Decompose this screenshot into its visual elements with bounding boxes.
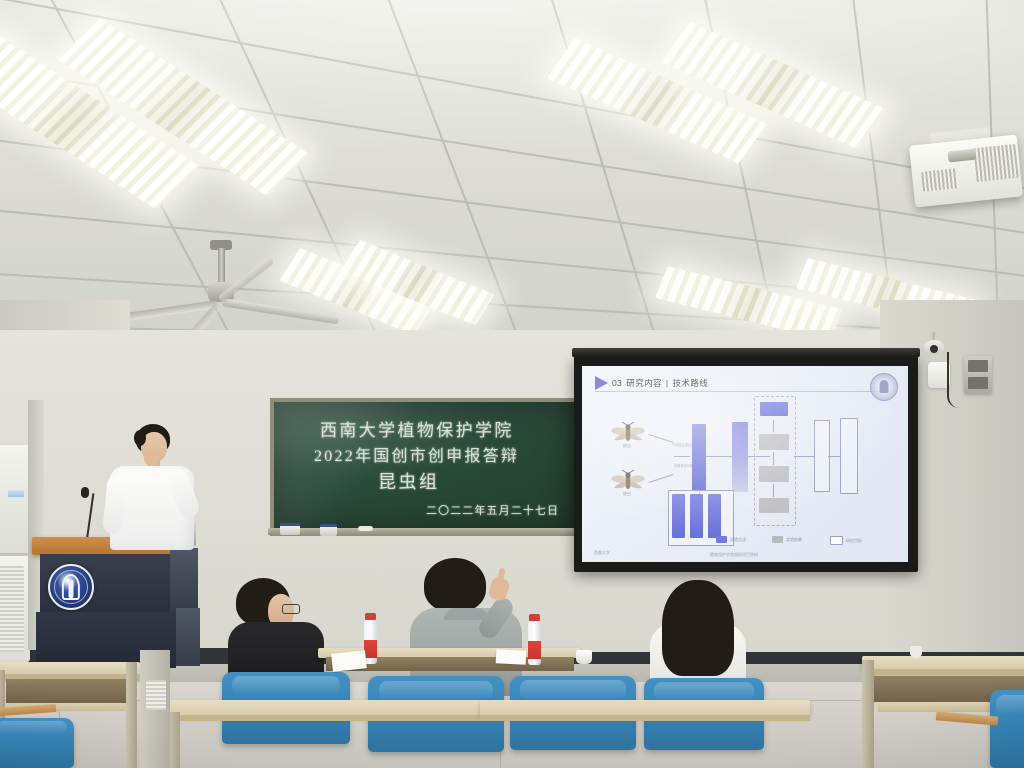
blackboard-line-1: 西南大学植物保护学院 (320, 416, 514, 441)
chalk-eraser (280, 523, 300, 535)
slide-footer-left: 西南大学 (594, 550, 610, 556)
blackboard: 西南大学植物保护学院 2022年国创市创申报答辩 昆虫组 二〇二二年五月二十七日 (270, 398, 578, 536)
audience-2-hair (424, 558, 486, 612)
podium-side-panel (170, 548, 198, 612)
power-cable (947, 352, 973, 408)
legend-item-outline: 研究目标 (830, 536, 862, 545)
microphone-head (81, 487, 89, 498)
handout-paper-1 (331, 650, 367, 671)
legend-item-blue: 实验方法 (716, 536, 746, 543)
flow-box-primary (692, 424, 706, 490)
presenter-hand (144, 450, 158, 466)
handout-paper-2 (496, 649, 527, 665)
projection-screen: 03 研究内容 | 技术路线 雌虫 (574, 356, 918, 572)
slide-title-sub: 技术路线 (673, 377, 709, 389)
legend-label-outline: 研究目标 (846, 538, 862, 544)
flow-box-secondary (732, 422, 748, 492)
insect-specimen-female: 雌虫 (610, 422, 646, 449)
slide-footer-center: 植物保护学院国创项目答辩 (710, 552, 758, 558)
legend-label-blue: 实验方法 (730, 537, 746, 543)
result-box-3 (759, 498, 789, 513)
blackboard-line-2: 2022年国创市创申报答辩 (314, 442, 519, 466)
flow-box-branch-2 (690, 494, 703, 538)
slide-title-underline (595, 391, 882, 392)
slide-title-bar: 03 研究内容 | 技术路线 (595, 376, 708, 390)
presentation-slide: 03 研究内容 | 技术路线 雌虫 (582, 366, 908, 562)
result-box-1 (759, 434, 789, 450)
slide-title-separator: | (666, 378, 669, 388)
legend-label-gray: 实验结果 (786, 537, 802, 543)
flow-box-top-right (760, 402, 788, 416)
classroom-photo: 西南大学植物保护学院 2022年国创市创申报答辩 昆虫组 二〇二二年五月二十七日… (0, 0, 1024, 768)
slide-title-number: 03 (612, 378, 622, 388)
audience-3-hair (662, 580, 734, 676)
university-crest-icon (870, 373, 898, 401)
blackboard-line-4: 二〇二二年五月二十七日 (426, 502, 559, 518)
result-box-2 (759, 466, 789, 482)
legend-swatch-blue (716, 536, 727, 543)
southwest-university-emblem (48, 564, 94, 610)
wall-socket (910, 646, 922, 658)
desk-front-center-2 (480, 700, 810, 716)
chalk-stick (358, 526, 373, 531)
legend-swatch-outline (830, 536, 843, 545)
outcome-box-2 (840, 418, 858, 494)
branch-annotation-2: 系统进化分析 (674, 463, 693, 468)
legend-swatch-gray (772, 536, 783, 543)
chalk-tray (268, 528, 574, 535)
chalk-eraser (320, 524, 337, 536)
specimen-label-male: 雄虫 (623, 491, 631, 497)
flow-box-branch-3 (708, 494, 721, 538)
presenter-hair-bun (134, 430, 146, 446)
flow-box-branch-1 (672, 494, 685, 538)
slide-title-main: 研究内容 (626, 377, 662, 389)
ceiling (0, 0, 1024, 360)
audience-2-collar (444, 608, 488, 620)
triangle-bullet-icon (595, 376, 608, 390)
insect-specimen-male: 雄虫 (610, 470, 646, 497)
paper-cup (576, 650, 592, 664)
eyeglasses-icon (282, 604, 300, 614)
blackboard-line-3: 昆虫组 (378, 468, 440, 494)
chair-front-left (0, 718, 74, 768)
legend-item-gray: 实验结果 (772, 536, 802, 543)
specimen-label-female: 雌虫 (623, 443, 631, 449)
podium-base-side (176, 608, 200, 666)
chair-front-right (990, 690, 1024, 768)
